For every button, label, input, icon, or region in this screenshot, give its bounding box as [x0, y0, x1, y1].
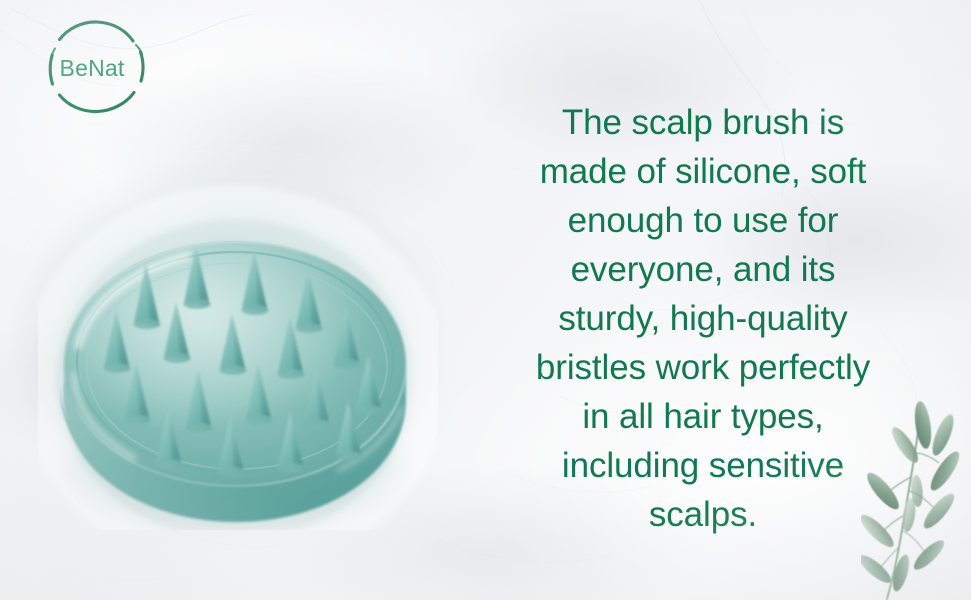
- product-banner: BeNat: [0, 0, 971, 600]
- scalp-brush-image: [38, 150, 438, 530]
- scalp-brush-illustration: [38, 150, 438, 530]
- logo-wordmark: BeNat: [30, 12, 154, 124]
- copy-line: enough to use for: [478, 196, 928, 245]
- copy-line: sturdy, high-quality: [478, 294, 928, 343]
- benat-logo[interactable]: BeNat: [30, 12, 154, 124]
- copy-line: The scalp brush is: [478, 98, 928, 147]
- copy-line: everyone, and its: [478, 245, 928, 294]
- copy-line: bristles work perfectly: [478, 343, 928, 392]
- copy-line: made of silicone, soft: [478, 147, 928, 196]
- olive-branch-decoration: [861, 395, 971, 600]
- olive-branch-illustration: [861, 395, 971, 600]
